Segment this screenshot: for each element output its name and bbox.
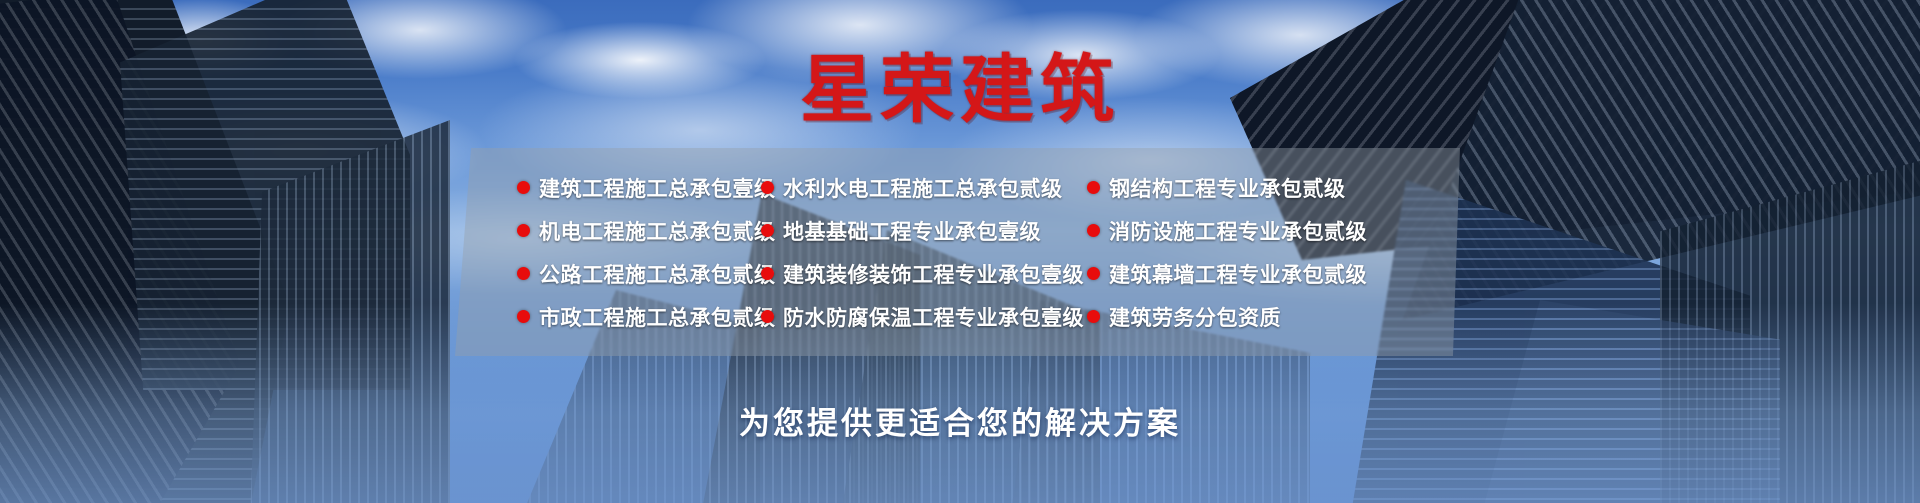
bullet-dot-icon (517, 224, 530, 237)
bullet-dot-icon (1087, 310, 1100, 323)
bullet-dot-icon (1087, 267, 1100, 280)
qualification-label: 地基基础工程专业承包壹级 (783, 216, 1041, 246)
qualification-item: 地基基础工程专业承包壹级 (761, 209, 1061, 252)
bullet-dot-icon (517, 181, 530, 194)
qualifications-column-1: 建筑工程施工总承包壹级 机电工程施工总承包贰级 公路工程施工总承包贰级 市政工程… (517, 166, 735, 338)
qualification-label: 公路工程施工总承包贰级 (539, 259, 776, 289)
qualification-label: 钢结构工程专业承包贰级 (1109, 173, 1346, 203)
qualifications-column-2: 水利水电工程施工总承包贰级 地基基础工程专业承包壹级 建筑装修装饰工程专业承包壹… (761, 166, 1061, 338)
bullet-dot-icon (1087, 181, 1100, 194)
bullet-dot-icon (761, 267, 774, 280)
qualification-label: 水利水电工程施工总承包贰级 (783, 173, 1063, 203)
hero-banner: 星荣建筑 建筑工程施工总承包壹级 机电工程施工总承包贰级 公路工程施工总承包贰级 (0, 0, 1920, 503)
qualification-item: 建筑装修装饰工程专业承包壹级 (761, 252, 1061, 295)
qualification-item: 防水防腐保温工程专业承包壹级 (761, 295, 1061, 338)
qualification-label: 建筑劳务分包资质 (1109, 302, 1281, 332)
qualification-item: 钢结构工程专业承包贰级 (1087, 166, 1460, 209)
bullet-dot-icon (517, 310, 530, 323)
qualifications-panel: 建筑工程施工总承包壹级 机电工程施工总承包贰级 公路工程施工总承包贰级 市政工程… (455, 148, 1460, 356)
qualification-item: 机电工程施工总承包贰级 (517, 209, 735, 252)
qualifications-column-3: 钢结构工程专业承包贰级 消防设施工程专业承包贰级 建筑幕墙工程专业承包贰级 建筑… (1087, 166, 1460, 338)
qualification-label: 机电工程施工总承包贰级 (539, 216, 776, 246)
qualification-item: 建筑劳务分包资质 (1087, 295, 1460, 338)
qualification-item: 公路工程施工总承包贰级 (517, 252, 735, 295)
bullet-dot-icon (761, 181, 774, 194)
qualifications-grid: 建筑工程施工总承包壹级 机电工程施工总承包贰级 公路工程施工总承包贰级 市政工程… (455, 148, 1460, 356)
bullet-dot-icon (1087, 224, 1100, 237)
bullet-dot-icon (517, 267, 530, 280)
qualification-label: 防水防腐保温工程专业承包壹级 (783, 302, 1084, 332)
qualification-label: 消防设施工程专业承包贰级 (1109, 216, 1367, 246)
qualification-label: 建筑幕墙工程专业承包贰级 (1109, 259, 1367, 289)
qualification-item: 建筑幕墙工程专业承包贰级 (1087, 252, 1460, 295)
qualification-label: 建筑装修装饰工程专业承包壹级 (783, 259, 1084, 289)
qualification-label: 建筑工程施工总承包壹级 (539, 173, 776, 203)
qualification-item: 市政工程施工总承包贰级 (517, 295, 735, 338)
qualification-item: 消防设施工程专业承包贰级 (1087, 209, 1460, 252)
qualification-item: 水利水电工程施工总承包贰级 (761, 166, 1061, 209)
qualification-label: 市政工程施工总承包贰级 (539, 302, 776, 332)
company-title: 星荣建筑 (0, 30, 1920, 137)
bullet-dot-icon (761, 310, 774, 323)
banner-tagline: 为您提供更适合您的解决方案 (0, 398, 1920, 443)
bullet-dot-icon (761, 224, 774, 237)
qualification-item: 建筑工程施工总承包壹级 (517, 166, 735, 209)
